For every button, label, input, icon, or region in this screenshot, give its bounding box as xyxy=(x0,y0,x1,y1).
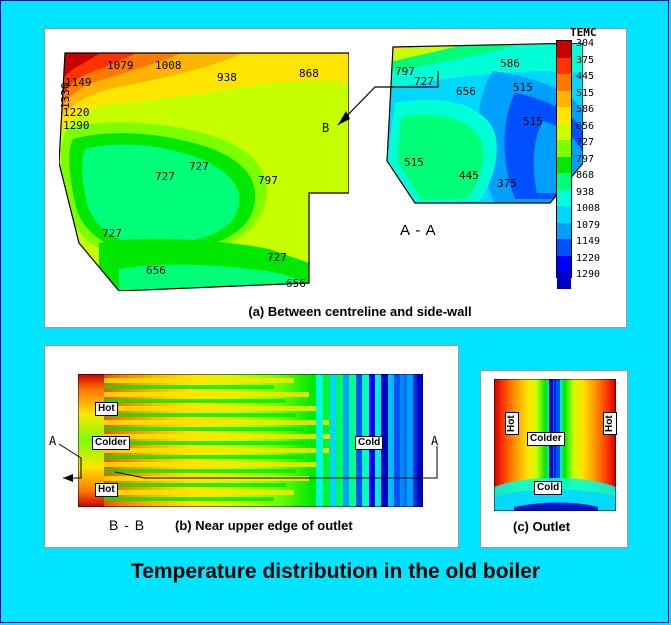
legend-swatch xyxy=(557,140,571,157)
legend-swatch xyxy=(557,124,571,141)
contour-label: 375 xyxy=(497,177,517,190)
legend-label: 1008 xyxy=(576,201,600,218)
contour-label: 656 xyxy=(146,264,166,277)
legend-swatch xyxy=(557,91,571,108)
contour-label: 1290 xyxy=(63,119,90,132)
annotation-hot-left: Hot xyxy=(505,412,519,435)
contour-label: 586 xyxy=(500,57,520,70)
panel-b-caption: (b) Near upper edge of outlet xyxy=(175,518,353,533)
contour-label: 727 xyxy=(414,75,434,88)
legend-label: 868 xyxy=(576,168,600,185)
contour-label: 797 xyxy=(258,174,278,187)
contour-label: 445 xyxy=(459,169,479,182)
contour-label: 797 xyxy=(395,65,415,78)
contour-label: 1008 xyxy=(155,59,182,72)
legend-label: 1220 xyxy=(576,251,600,268)
contour-label: 515 xyxy=(513,81,533,94)
annotation-hot-right: Hot xyxy=(603,412,617,435)
legend-swatch xyxy=(557,157,571,174)
contour-label: 1149 xyxy=(65,76,92,89)
legend-label: 656 xyxy=(576,119,600,136)
panel-a: 1330 1290 1220 1149 1079 1008 938 868 79… xyxy=(44,28,627,328)
legend-label: 1149 xyxy=(576,234,600,251)
legend-swatch xyxy=(557,74,571,91)
legend-swatch xyxy=(557,41,571,58)
annotation-cold: Cold xyxy=(534,481,562,495)
contour-label: 1079 xyxy=(107,59,134,72)
panel-a-caption: (a) Between centreline and side-wall xyxy=(195,304,525,319)
contour-label: 1220 xyxy=(63,106,90,119)
color-legend: TEMC 304 375 445 515 586 656 727 797 868… xyxy=(556,40,616,280)
cut-line-left xyxy=(51,438,91,483)
legend-label: 304 xyxy=(576,36,600,53)
legend-label: 1290 xyxy=(576,267,600,284)
legend-label: 586 xyxy=(576,102,600,119)
legend-swatch xyxy=(557,107,571,124)
legend-label: 727 xyxy=(576,135,600,152)
contour-label: 515 xyxy=(404,156,424,169)
legend-swatch xyxy=(557,173,571,190)
cut-label-left: A xyxy=(49,434,56,448)
contour-label: 656 xyxy=(456,85,476,98)
contour-label: 727 xyxy=(267,251,287,264)
section-bb-label: B - B xyxy=(109,517,145,533)
legend-label: 1079 xyxy=(576,218,600,235)
contour-label: 656 xyxy=(286,277,306,290)
legend-labels: 304 375 445 515 586 656 727 797 868 938 … xyxy=(576,36,600,284)
annotation-hot-top: Hot xyxy=(95,402,118,416)
contour-label: 727 xyxy=(189,160,209,173)
figure-title: Temperature distribution in the old boil… xyxy=(0,560,671,584)
legend-label: 375 xyxy=(576,53,600,70)
cut-label-right: A xyxy=(431,434,438,448)
legend-swatch xyxy=(557,272,571,289)
legend-label: 445 xyxy=(576,69,600,86)
legend-label: 515 xyxy=(576,86,600,103)
legend-swatch xyxy=(557,256,571,273)
contour-label: 727 xyxy=(155,170,175,183)
panel-c-caption: (c) Outlet xyxy=(513,519,570,534)
annotation-cold: Cold xyxy=(355,436,383,450)
section-aa-label: A - A xyxy=(400,222,437,239)
legend-swatch xyxy=(557,58,571,75)
contour-label: 515 xyxy=(523,115,543,128)
legend-label: 938 xyxy=(576,185,600,202)
contour-label: 727 xyxy=(102,227,122,240)
annotation-colder: Colder xyxy=(527,432,565,446)
leader-line xyxy=(105,454,435,484)
contour-label: 938 xyxy=(217,71,237,84)
legend-label: 797 xyxy=(576,152,600,169)
legend-swatch xyxy=(557,239,571,256)
panel-b: A A Hot Colder Hot Cold B - B (b) Near u… xyxy=(44,345,459,548)
arrow-b-label: B xyxy=(322,121,329,135)
annotation-hot-bottom: Hot xyxy=(95,483,118,497)
annotation-colder: Colder xyxy=(92,436,130,450)
legend-swatch xyxy=(557,206,571,223)
legend-swatches xyxy=(556,40,572,278)
panel-c: Hot Colder Hot Cold (c) Outlet xyxy=(480,370,628,548)
legend-swatch xyxy=(557,223,571,240)
legend-swatch xyxy=(557,190,571,207)
contour-label: 868 xyxy=(299,67,319,80)
